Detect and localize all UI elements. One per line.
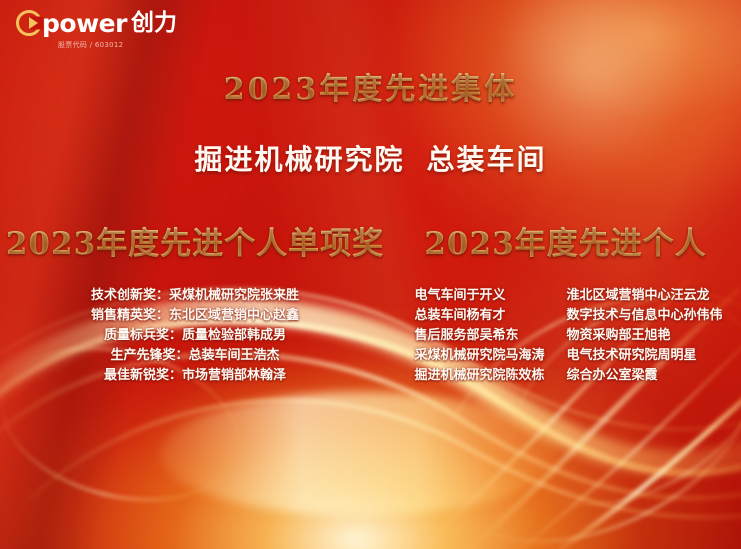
heading-individual-special-awards: 2023年度先进个人单项奖 — [0, 218, 390, 263]
award-winner-left: 掘进机械研究院陈效栋 — [415, 366, 567, 386]
list-individual-special-awards: 技术创新奖：采煤机械研究院张来胜 销售精英奖：东北区域营销中心赵鑫 质量标兵奖：… — [0, 286, 390, 386]
award-winner-right: 综合办公室梁霞 — [567, 366, 717, 386]
power-circle-arrow-icon — [16, 10, 42, 36]
award-label: 销售精英奖： — [91, 308, 169, 323]
logo-name-cn: 创力 — [131, 12, 177, 35]
company-logo: power 创力 股票代码 / 603012 — [16, 10, 236, 50]
award-winner-right: 淮北区域营销中心汪云龙 — [567, 286, 717, 306]
award-lists: 技术创新奖：采煤机械研究院张来胜 销售精英奖：东北区域营销中心赵鑫 质量标兵奖：… — [0, 286, 741, 386]
list-item: 售后服务部吴希东 物资采购部王旭艳 — [415, 326, 717, 346]
award-winner-left: 采煤机械研究院马海涛 — [415, 346, 567, 366]
list-individual-awards: 电气车间于开义 淮北区域营销中心汪云龙 总装车间杨有才 数字技术与信息中心孙伟伟… — [390, 286, 741, 386]
list-item: 电气车间于开义 淮北区域营销中心汪云龙 — [415, 286, 717, 306]
list-item: 采煤机械研究院马海涛 电气技术研究院周明星 — [415, 346, 717, 366]
heading-individual-awards: 2023年度先进个人 — [390, 218, 741, 263]
award-winner: 市场营销部林翰泽 — [182, 368, 286, 383]
list-item: 技术创新奖：采煤机械研究院张来胜 — [91, 286, 299, 306]
list-item: 最佳新锐奖：市场营销部林翰泽 — [104, 366, 286, 386]
award-winner-right: 数字技术与信息中心孙伟伟 — [567, 306, 717, 326]
section-headings: 2023年度先进个人单项奖 2023年度先进个人 — [0, 218, 741, 263]
award-winner: 采煤机械研究院张来胜 — [169, 288, 299, 303]
collective-award-winners: 掘进机械研究院总装车间 — [0, 138, 741, 178]
award-winner-right: 物资采购部王旭艳 — [567, 326, 717, 346]
award-winner: 质量检验部韩成男 — [182, 328, 286, 343]
award-label: 质量标兵奖： — [104, 328, 182, 343]
logo-name-en: power — [42, 11, 127, 36]
award-winner: 总装车间王浩杰 — [189, 348, 280, 363]
award-label: 技术创新奖： — [91, 288, 169, 303]
list-item: 总装车间杨有才 数字技术与信息中心孙伟伟 — [415, 306, 717, 326]
award-winner-right: 电气技术研究院周明星 — [567, 346, 717, 366]
list-item: 掘进机械研究院陈效栋 综合办公室梁霞 — [415, 366, 717, 386]
award-label: 生产先锋奖： — [110, 348, 188, 363]
award-winner: 东北区域营销中心赵鑫 — [169, 308, 299, 323]
list-item: 质量标兵奖：质量检验部韩成男 — [104, 326, 286, 346]
award-winner-left: 售后服务部吴希东 — [415, 326, 567, 346]
collective-winner-1: 掘进机械研究院 — [194, 143, 404, 176]
list-item: 销售精英奖：东北区域营销中心赵鑫 — [91, 306, 299, 326]
award-winner-left: 电气车间于开义 — [415, 286, 567, 306]
award-poster: power 创力 股票代码 / 603012 2023年度先进集体 掘进机械研究… — [0, 0, 741, 549]
award-label: 最佳新锐奖： — [104, 368, 182, 383]
list-item: 生产先锋奖：总装车间王浩杰 — [110, 346, 279, 366]
collective-winner-2: 总装车间 — [427, 143, 547, 176]
logo-stock-code: 股票代码 / 603012 — [58, 40, 236, 50]
collective-award-title: 2023年度先进集体 — [0, 64, 741, 108]
award-winner-left: 总装车间杨有才 — [415, 306, 567, 326]
logo-row: power 创力 — [16, 10, 236, 36]
